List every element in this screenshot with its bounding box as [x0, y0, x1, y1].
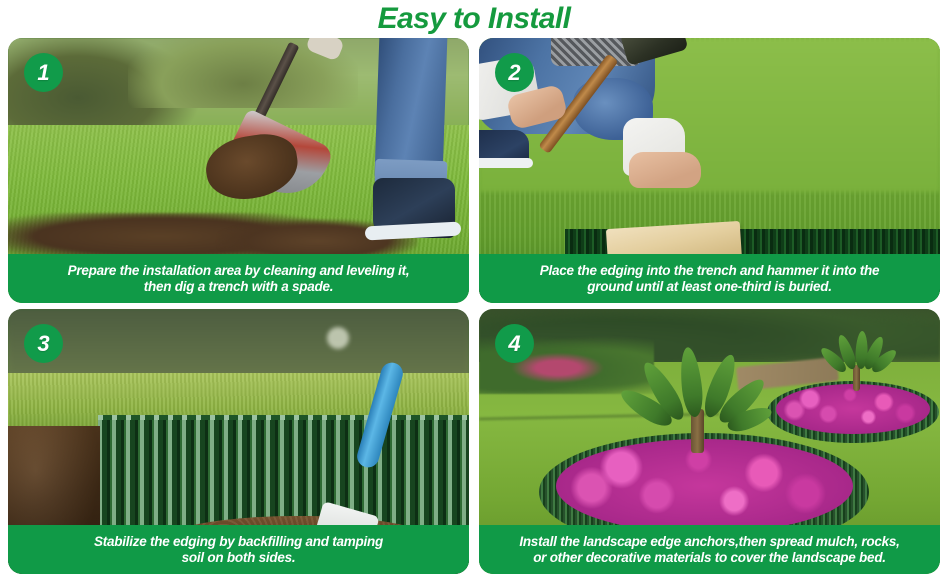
- step-card-1[interactable]: 1 Prepare the installation area by clean…: [8, 38, 469, 303]
- step-card-2[interactable]: 2 Place the edging into the trench and h…: [479, 38, 940, 303]
- step-badge-4: 4: [495, 324, 534, 363]
- step-caption-4: Install the landscape edge anchors,then …: [479, 525, 940, 574]
- step-card-4[interactable]: 4 Install the landscape edge anchors,the…: [479, 309, 940, 574]
- step-badge-2: 2: [495, 53, 534, 92]
- step-caption-2: Place the edging into the trench and ham…: [479, 254, 940, 303]
- step-card-3[interactable]: 3 Stabilize the edging by backfilling an…: [8, 309, 469, 574]
- flower-bed-far: [767, 381, 939, 443]
- product-infographic: Easy to Install 1 Prepare the ins: [0, 0, 948, 581]
- step-caption-3: Stabilize the edging by backfilling and …: [8, 525, 469, 574]
- page-title: Easy to Install: [0, 2, 948, 36]
- step-badge-3: 3: [24, 324, 63, 363]
- step-badge-1: 1: [24, 53, 63, 92]
- steps-grid: 1 Prepare the installation area by clean…: [8, 38, 940, 574]
- step-caption-1: Prepare the installation area by cleanin…: [8, 254, 469, 303]
